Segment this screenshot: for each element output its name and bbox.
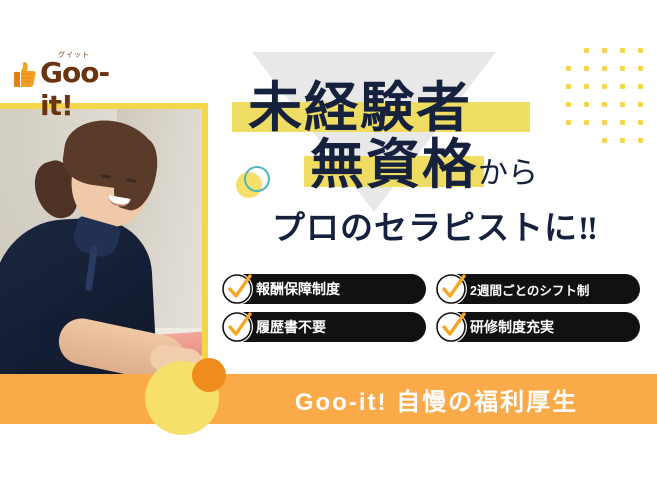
headline-block: 未経験者 無資格から プロのセラピストに‼ [232,78,652,251]
feature-badge[interactable]: 報酬保障制度 [226,274,426,304]
feature-badge-label: 2週間ごとのシフト制 [470,280,589,299]
thumbs-up-icon [14,60,38,90]
therapist-photo [0,103,208,405]
feature-badge[interactable]: 研修制度充実 [440,312,640,342]
check-circle-icon [435,273,467,305]
headline-line-3: プロのセラピストに‼ [232,207,652,251]
feature-badge-label: 履歴書不要 [256,317,326,337]
check-circle-icon [435,311,467,343]
headline-line-1-text: 未経験者 [248,78,472,138]
feature-badge[interactable]: 履歴書不要 [226,312,426,342]
circle-orange-decoration [192,358,226,392]
feature-badge-label: 報酬保障制度 [256,279,340,299]
logo-wordmark: Goo-it! [40,56,124,122]
promo-banner: 未経験者 無資格から プロのセラピストに‼ 報酬保障制度2週間ごとのシフト制履歴… [0,0,657,484]
check-circle-icon [221,273,253,305]
feature-badge-label: 研修制度充実 [470,317,554,337]
headline-line-2-suffix: から [478,157,538,190]
bottom-banner: Goo-it! 自慢の福利厚生 [216,374,657,424]
check-circle-icon [221,311,253,343]
brand-logo[interactable]: グイット Goo-it! [14,52,124,96]
headline-line-2-highlight: 無資格 [310,135,478,195]
headline-line-1: 未経験者 [232,78,652,138]
feature-badge[interactable]: 2週間ごとのシフト制 [440,274,640,304]
photo-image [0,109,202,405]
feature-badge-list: 報酬保障制度2週間ごとのシフト制履歴書不要研修制度充実 [226,274,650,342]
bottom-banner-text: Goo-it! 自慢の福利厚生 [295,382,578,417]
headline-line-2: 無資格から [232,134,652,205]
